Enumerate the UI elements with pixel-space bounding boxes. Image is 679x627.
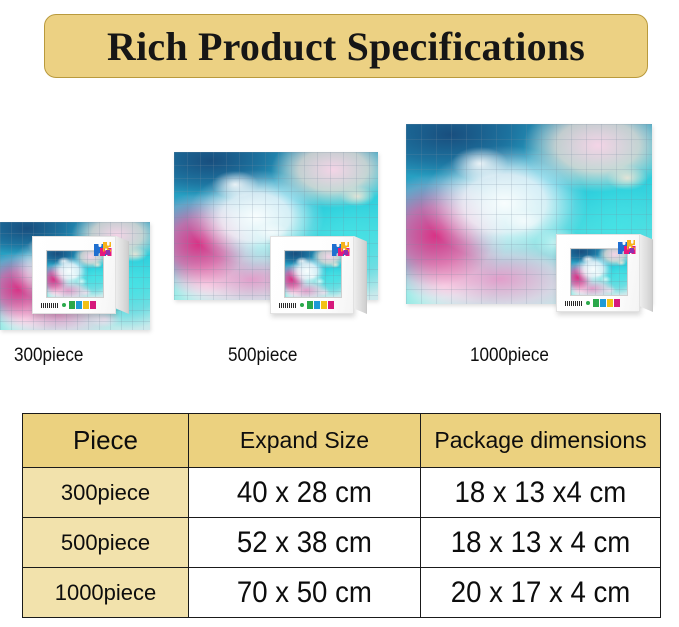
product-group-300piece bbox=[0, 222, 180, 332]
box-front-panel bbox=[32, 236, 116, 314]
brand-logo-icon bbox=[69, 301, 96, 309]
brand-dot-icon bbox=[62, 303, 66, 307]
box-branding-strip bbox=[41, 301, 96, 309]
table-header-row: Piece Expand Size Package dimensions bbox=[23, 414, 661, 468]
page-title-banner: Rich Product Specifications bbox=[44, 14, 648, 78]
cell-package-dimensions-300: 18 x 13 x4 cm bbox=[421, 468, 661, 518]
cell-value: 40 x 28 cm bbox=[237, 476, 372, 510]
brand-logo-icon bbox=[593, 299, 620, 307]
brand-dot-icon bbox=[300, 303, 304, 307]
cell-expand-size-1000: 70 x 50 cm bbox=[189, 568, 421, 618]
puzzle-piece-logo-icon bbox=[92, 241, 112, 257]
box-window-artwork bbox=[46, 250, 104, 298]
puzzle-piece-logo-icon bbox=[616, 239, 636, 255]
box-side-panel bbox=[116, 236, 129, 314]
cell-piece-1000: 1000piece bbox=[23, 568, 189, 618]
table-row: 500piece 52 x 38 cm 18 x 13 x 4 cm bbox=[23, 518, 661, 568]
table-row: 1000piece 70 x 50 cm 20 x 17 x 4 cm bbox=[23, 568, 661, 618]
brand-dot-icon bbox=[586, 301, 590, 305]
cell-value: 20 x 17 x 4 cm bbox=[451, 576, 630, 610]
box-side-panel bbox=[640, 234, 653, 312]
box-branding-strip bbox=[279, 301, 334, 309]
table-row: 300piece 40 x 28 cm 18 x 13 x4 cm bbox=[23, 468, 661, 518]
box-window-artwork bbox=[284, 250, 342, 298]
column-header-piece: Piece bbox=[23, 414, 189, 468]
cell-value: 18 x 13 x4 cm bbox=[455, 476, 627, 510]
column-header-expand-size: Expand Size bbox=[189, 414, 421, 468]
cell-expand-size-500: 52 x 38 cm bbox=[189, 518, 421, 568]
specifications-table: Piece Expand Size Package dimensions 300… bbox=[22, 413, 661, 618]
cell-expand-size-300: 40 x 28 cm bbox=[189, 468, 421, 518]
cell-value: 52 x 38 cm bbox=[237, 526, 372, 560]
barcode-icon bbox=[565, 301, 583, 306]
puzzle-piece-logo-icon bbox=[330, 241, 350, 257]
size-label-300piece: 300piece bbox=[14, 345, 83, 367]
cell-value: 70 x 50 cm bbox=[237, 576, 372, 610]
size-label-1000piece: 1000piece bbox=[470, 345, 549, 367]
cell-package-dimensions-1000: 20 x 17 x 4 cm bbox=[421, 568, 661, 618]
cell-piece-300: 300piece bbox=[23, 468, 189, 518]
box-window-artwork bbox=[570, 248, 628, 296]
box-branding-strip bbox=[565, 299, 620, 307]
barcode-icon bbox=[41, 303, 59, 308]
barcode-icon bbox=[279, 303, 297, 308]
product-group-1000piece bbox=[406, 124, 672, 332]
box-front-panel bbox=[270, 236, 354, 314]
cell-package-dimensions-500: 18 x 13 x 4 cm bbox=[421, 518, 661, 568]
cell-piece-500: 500piece bbox=[23, 518, 189, 568]
page-title: Rich Product Specifications bbox=[107, 23, 585, 70]
cell-value: 18 x 13 x 4 cm bbox=[451, 526, 630, 560]
brand-logo-icon bbox=[307, 301, 334, 309]
column-header-package-dimensions: Package dimensions bbox=[421, 414, 661, 468]
box-side-panel bbox=[354, 236, 367, 314]
box-front-panel bbox=[556, 234, 640, 312]
size-label-500piece: 500piece bbox=[228, 345, 297, 367]
product-group-500piece bbox=[174, 152, 424, 332]
